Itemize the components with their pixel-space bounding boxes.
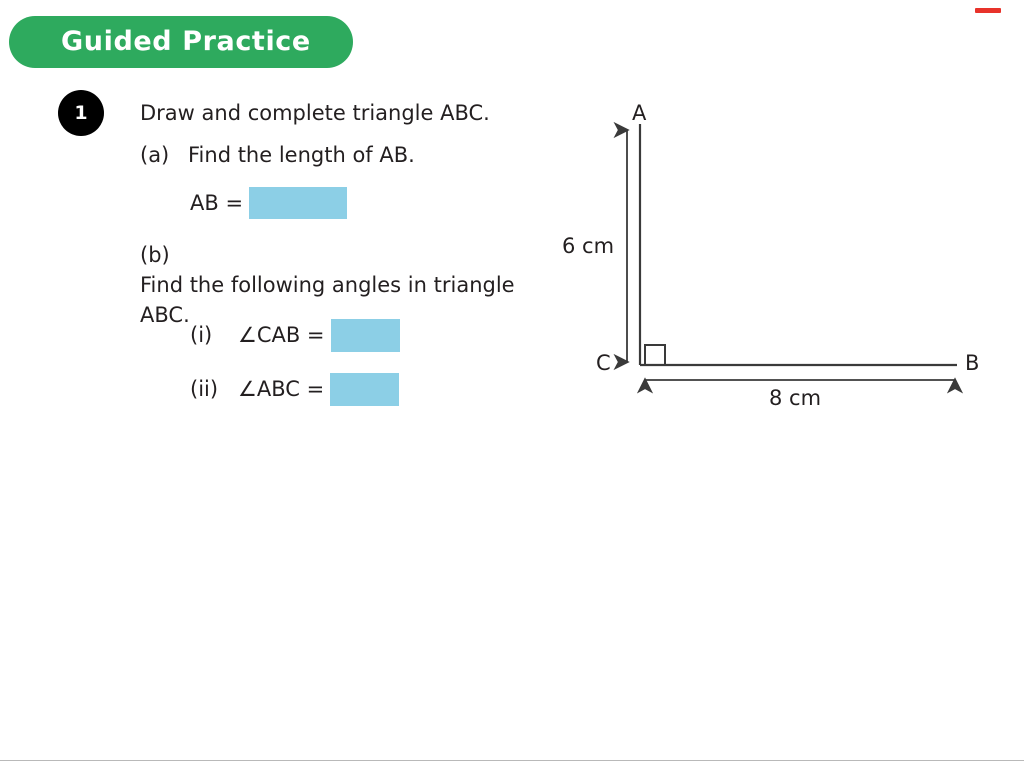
answer-row-ab: AB =	[190, 186, 347, 220]
answer-box-ab[interactable]	[249, 187, 347, 219]
bottom-divider	[0, 760, 1024, 761]
part-a-marker: (a)	[140, 140, 188, 170]
dimension-label-horizontal: 8 cm	[769, 387, 821, 409]
triangle-diagram-svg	[540, 90, 1010, 430]
vertex-label-c: C	[596, 352, 611, 374]
triangle-diagram	[540, 90, 1010, 430]
dimension-label-vertical: 6 cm	[562, 235, 614, 257]
slide-canvas: Guided Practice 1 Draw and complete tria…	[0, 0, 1024, 768]
vertex-label-b: B	[965, 352, 979, 374]
guided-practice-banner: Guided Practice	[9, 16, 353, 68]
answer-label-ab: AB =	[190, 191, 243, 215]
answer-box-abc[interactable]	[330, 373, 399, 406]
question-number-badge: 1	[58, 90, 104, 136]
part-b-marker: (b)	[140, 240, 188, 270]
question-part-a: (a)Find the length of AB.	[140, 140, 415, 170]
right-angle-marker	[645, 345, 665, 365]
answer-row-abc: (ii)∠ABC =	[190, 372, 399, 407]
answer-label-cab: ∠CAB =	[238, 323, 325, 347]
question-stem: Draw and complete triangle ABC.	[140, 99, 490, 127]
red-tick-mark	[975, 8, 1001, 13]
banner-title: Guided Practice	[61, 28, 311, 56]
answer-marker-i: (i)	[190, 318, 238, 352]
answer-row-cab: (i)∠CAB =	[190, 318, 400, 353]
question-number-label: 1	[58, 90, 104, 136]
answer-label-abc: ∠ABC =	[238, 377, 324, 401]
question-part-b: (b)Find the following angles in triangle…	[140, 240, 540, 330]
answer-marker-ii: (ii)	[190, 372, 238, 406]
answer-box-cab[interactable]	[331, 319, 400, 352]
part-a-text: Find the length of AB.	[188, 140, 415, 170]
vertex-label-a: A	[632, 102, 646, 124]
